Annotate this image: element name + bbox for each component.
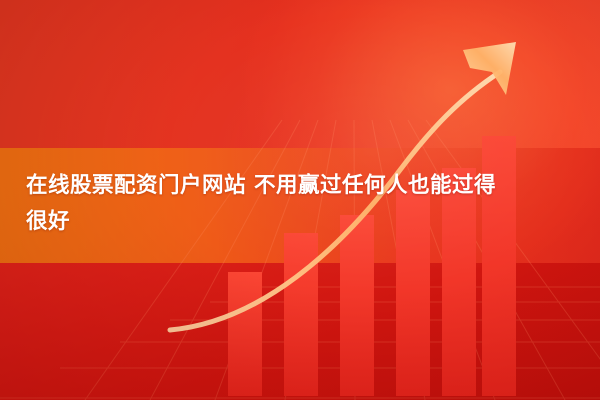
promo-banner: 在线股票配资门户网站 不用赢过任何人也能过得很好 [0,0,600,400]
headline-text: 在线股票配资门户网站 不用赢过任何人也能过得很好 [26,168,506,240]
background-band-bottom [0,263,600,400]
background-band-top [0,0,600,148]
